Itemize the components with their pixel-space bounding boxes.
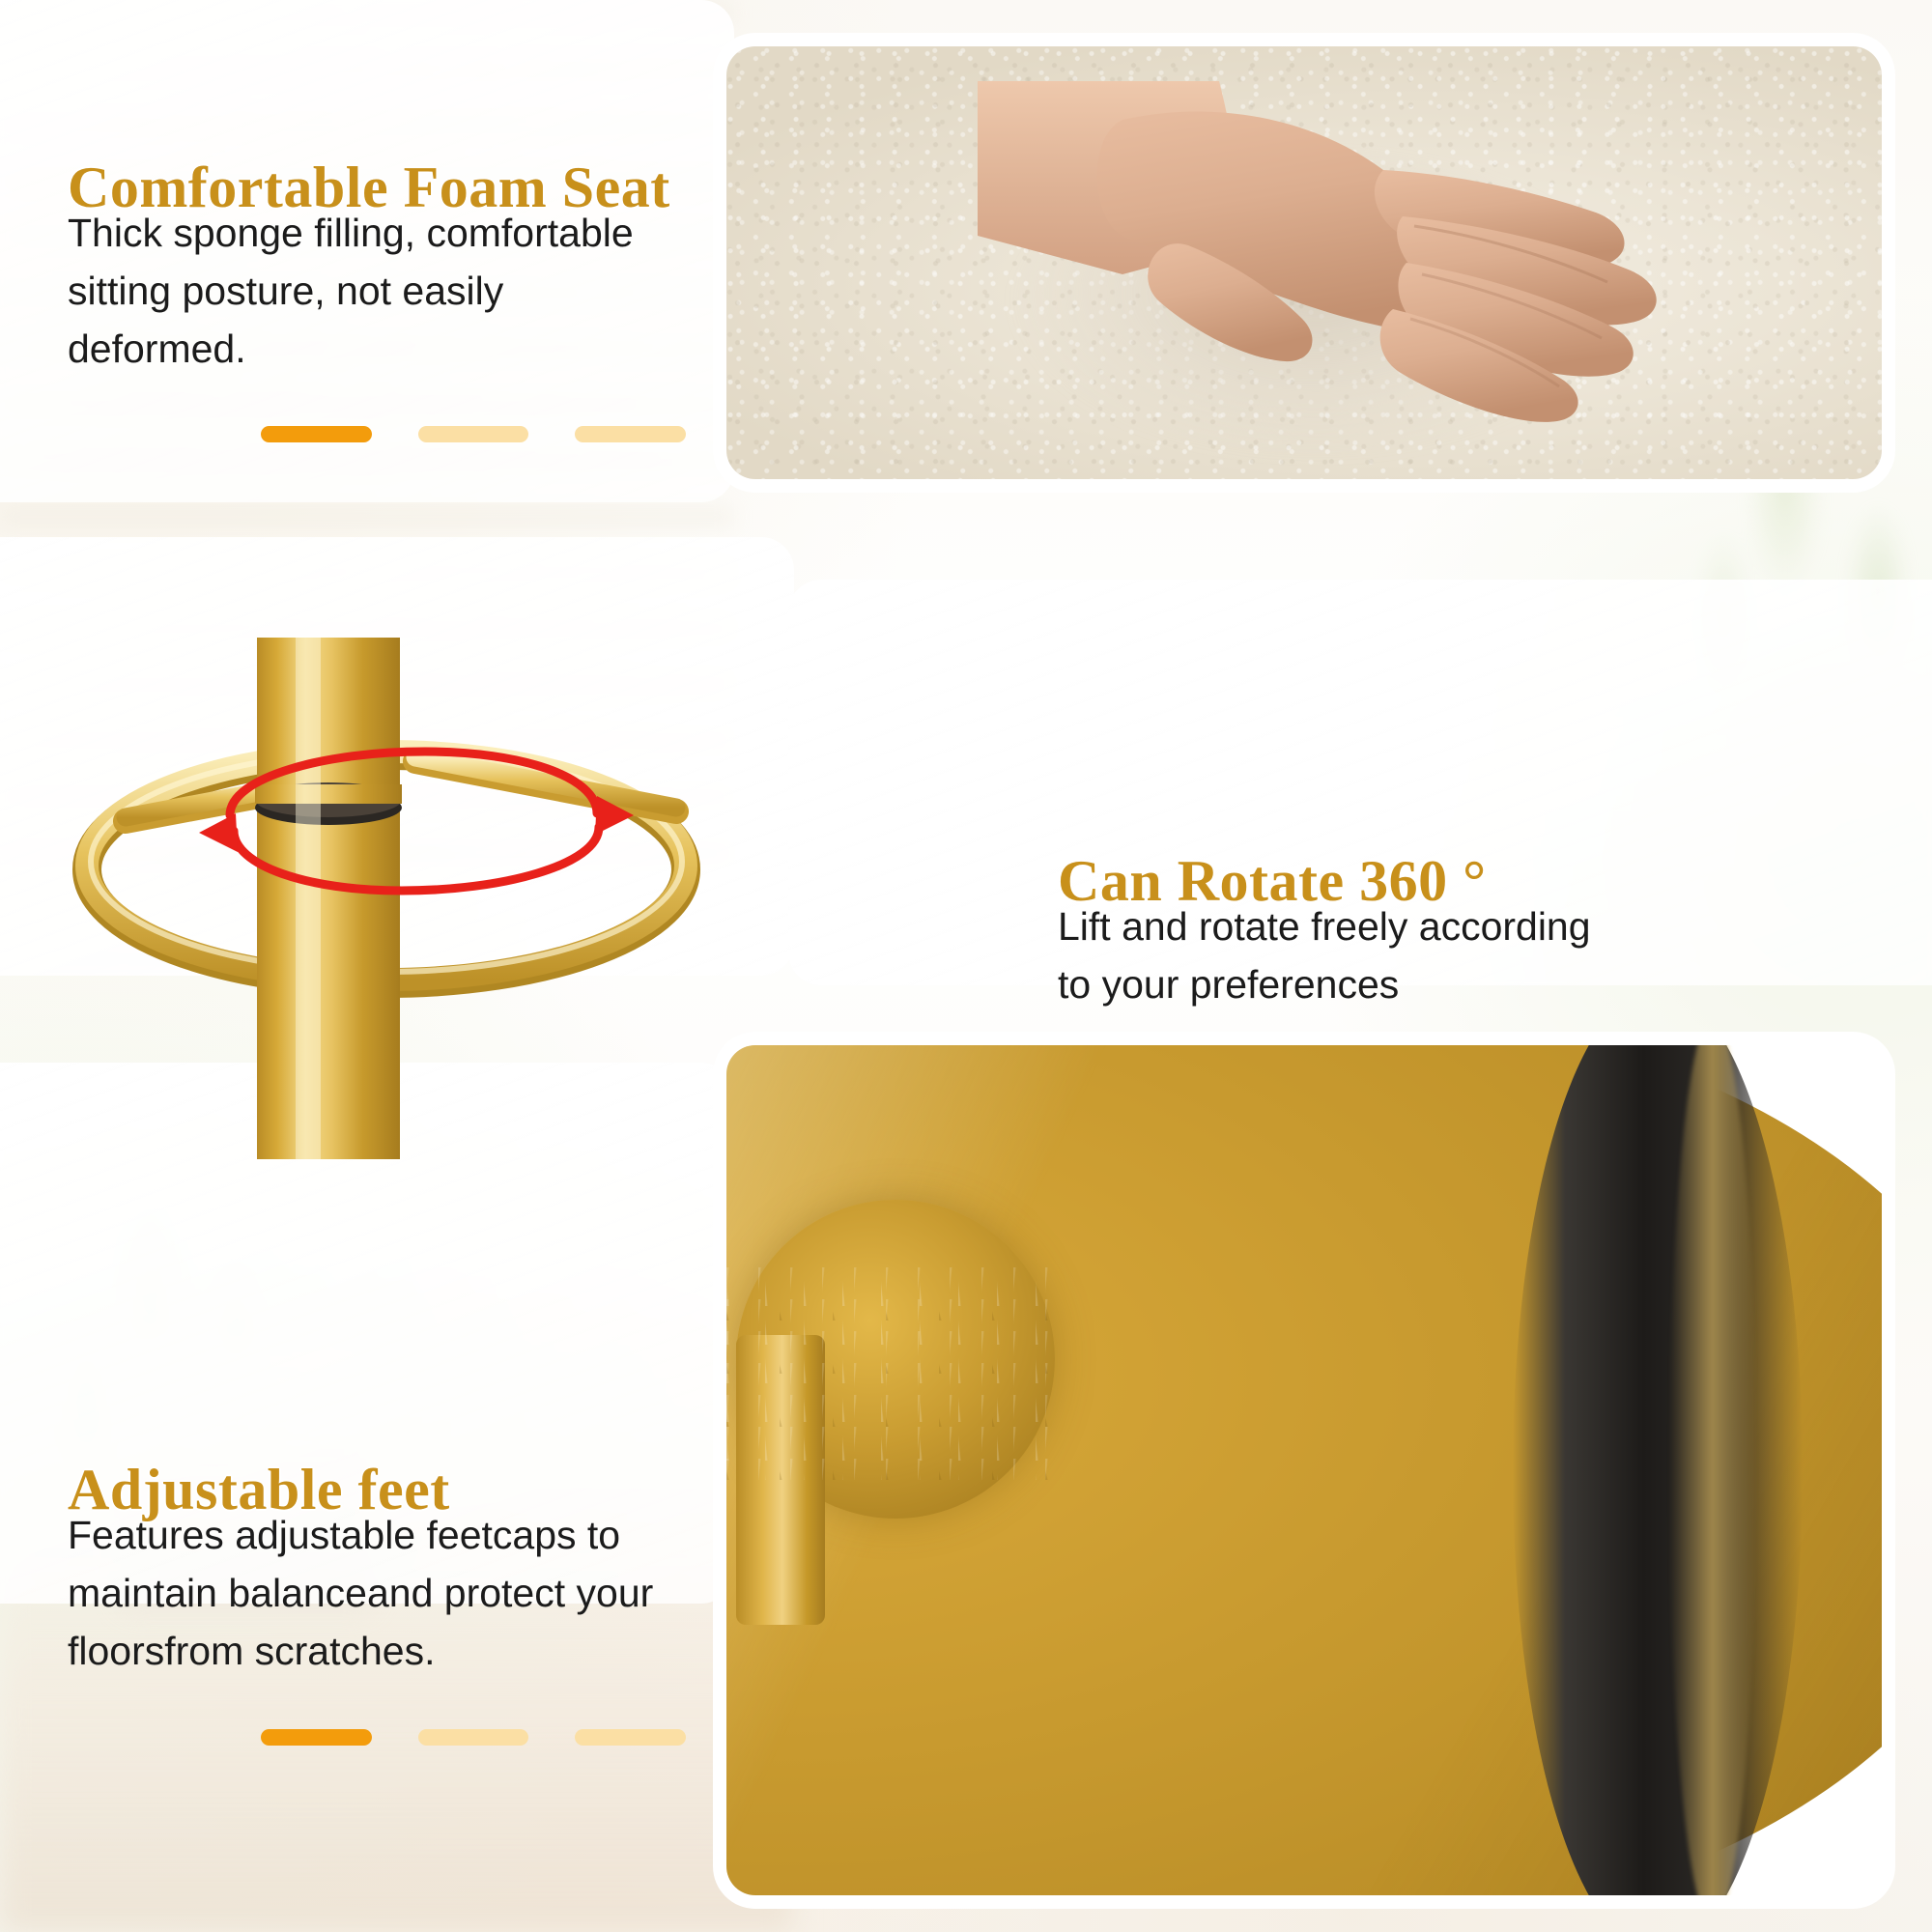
feature-3-dash-row [261,1729,686,1746]
metal-scratch-texture [726,1267,1074,1480]
hand-icon [978,81,1712,468]
feature-1-dash-2 [418,426,529,442]
feature-3-body-line-2: maintain balanceand protect your [68,1565,724,1623]
feature-2-body-line-1: Lift and rotate freely according [1058,898,1734,956]
feature-3-dash-2 [418,1729,529,1746]
feature-1-body-line-3: deformed. [68,321,705,379]
feature-2-body: Lift and rotate freely according to your… [1058,898,1734,1014]
feature-1-dash-row [261,426,686,442]
rim-highlight [1669,1045,1756,1895]
feature-3-photo-adjustable-feet [726,1045,1882,1895]
rotation-arrow-icon [116,734,657,927]
feature-3-dash-1 [261,1729,372,1746]
feature-1-dash-1 [261,426,372,442]
feature-1-body-line-2: sitting posture, not easily [68,263,705,321]
feature-3-dash-3 [575,1729,686,1746]
feature-3-body-line-3: floorsfrom scratches. [68,1623,724,1681]
infographic-page: Comfortable Foam Seat Thick sponge filli… [0,0,1932,1932]
feature-1-body: Thick sponge filling, comfortable sittin… [68,205,705,379]
feature-2-body-line-2: to your preferences [1058,956,1734,1014]
feature-1-dash-3 [575,426,686,442]
feature-1-photo-foam-seat [726,46,1882,479]
black-protective-rim [1513,1045,1803,1895]
feature-3-body-line-1: Features adjustable feetcaps to [68,1507,724,1565]
feature-3-body: Features adjustable feetcaps to maintain… [68,1507,724,1681]
feature-1-body-line-1: Thick sponge filling, comfortable [68,205,705,263]
